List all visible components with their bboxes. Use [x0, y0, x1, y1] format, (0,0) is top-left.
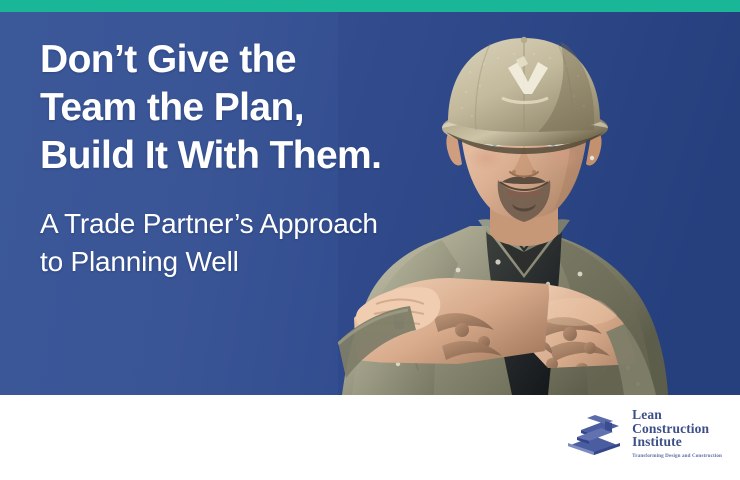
presenter-photo [338, 12, 740, 395]
hero-panel: Don’t Give the Team the Plan, Build It W… [0, 12, 740, 395]
copy-block: Don’t Give the Team the Plan, Build It W… [40, 36, 385, 281]
logo-line-2: Construction [632, 422, 722, 436]
top-accent-bar [0, 0, 740, 12]
lci-logo-text: Lean Construction Institute Transforming… [632, 407, 722, 459]
webinar-title-banner: Don’t Give the Team the Plan, Build It W… [0, 0, 740, 480]
logo-line-3: Institute [632, 435, 722, 449]
logo-tagline: Transforming Design and Construction [632, 453, 722, 459]
footer-bar: Lean Construction Institute Transforming… [0, 395, 740, 480]
subheadline: A Trade Partner’s Approach to Planning W… [40, 205, 385, 281]
logo-line-1: Lean [632, 408, 722, 422]
lci-logo: Lean Construction Institute Transforming… [565, 407, 722, 459]
headline: Don’t Give the Team the Plan, Build It W… [40, 36, 385, 180]
lci-isometric-mark [565, 410, 623, 456]
